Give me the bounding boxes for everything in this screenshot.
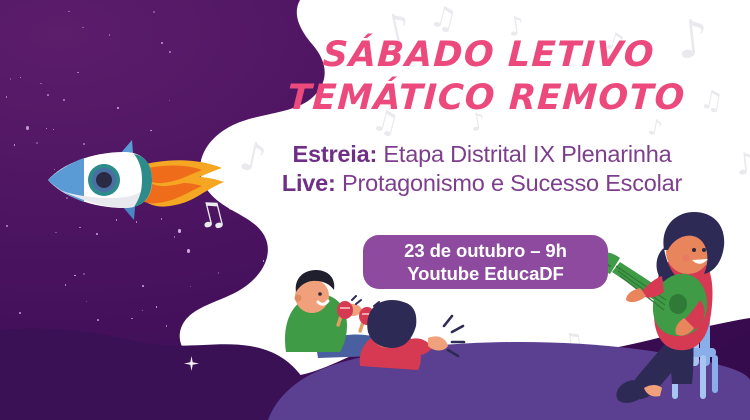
page-title: Sábado Letivo Temático Remoto xyxy=(228,34,748,120)
badge-channel: Youtube EducaDF xyxy=(407,262,563,285)
subtitle-text-estreia: Etapa Distrital IX Plenarinha xyxy=(377,141,671,167)
poster: ♪♫♪♫♪♫♪♫♪♫♪♪♫♪ xyxy=(0,0,750,420)
title-line-1: Sábado Letivo xyxy=(322,35,656,75)
subtitle-line-1: Estreia: Etapa Distrital IX Plenarinha xyxy=(222,140,742,169)
event-info-badge: 23 de outubro – 9h Youtube EducaDF xyxy=(363,235,608,289)
subtitle-text-live: Protagonismo e Sucesso Escolar xyxy=(336,170,682,196)
subtitle-label-estreia: Estreia: xyxy=(292,141,377,167)
badge-date-time: 23 de outubro – 9h xyxy=(404,239,567,262)
subtitle-label-live: Live: xyxy=(282,170,336,196)
subtitle-line-2: Live: Protagonismo e Sucesso Escolar xyxy=(222,169,742,198)
title-line-2: Temático Remoto xyxy=(228,77,745,120)
subtitle: Estreia: Etapa Distrital IX Plenarinha L… xyxy=(222,140,742,198)
